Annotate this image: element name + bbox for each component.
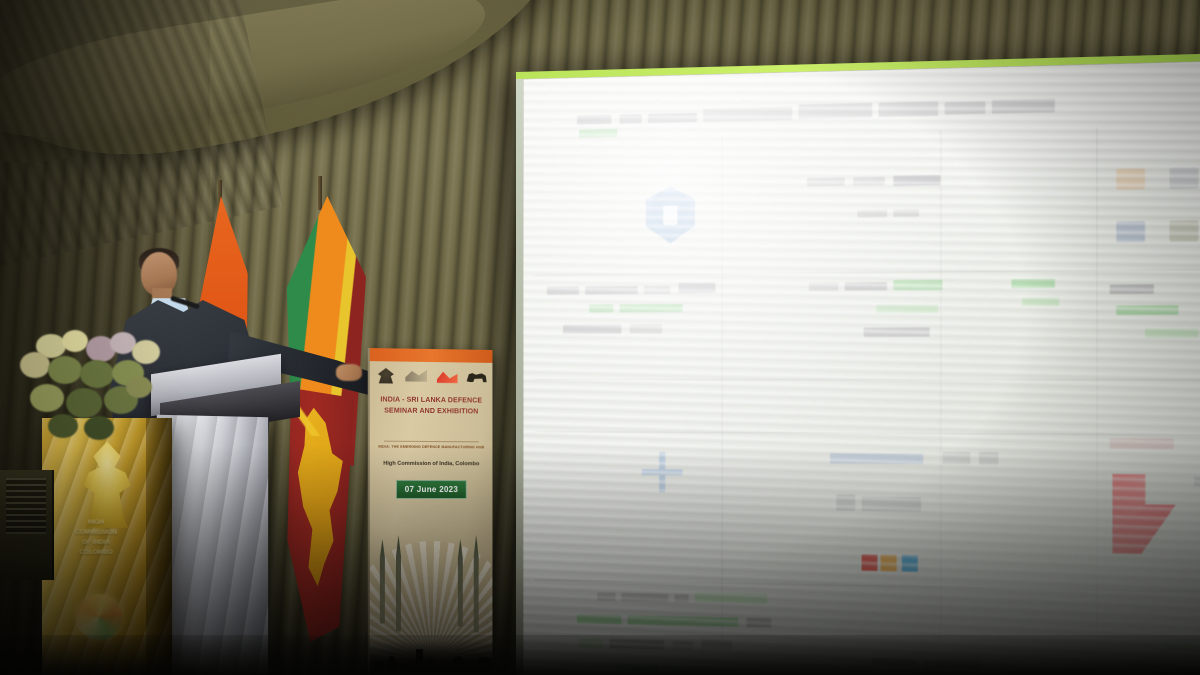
srilanka-flag-pole (318, 176, 322, 210)
red-partner-logo-icon (436, 368, 458, 384)
banner-logo-row (375, 365, 488, 387)
slide-title (577, 90, 1200, 142)
blue-shield-logo (646, 186, 695, 243)
speaker-hand (336, 364, 362, 381)
g20-logo-icon (405, 368, 427, 384)
banner-top-bar (370, 348, 493, 363)
conference-photo: HIGH COMMISSION OF INDIA COLOMBO (0, 0, 1200, 675)
india-emblem-icon (375, 367, 397, 383)
lion-logo-icon (466, 369, 488, 385)
banner-headline: INDIA - SRI LANKA DEFENCE SEMINAR AND EX… (374, 394, 489, 417)
banner-divider (384, 441, 479, 443)
stage-floor (0, 635, 1200, 675)
flower-arrangement (8, 330, 176, 450)
